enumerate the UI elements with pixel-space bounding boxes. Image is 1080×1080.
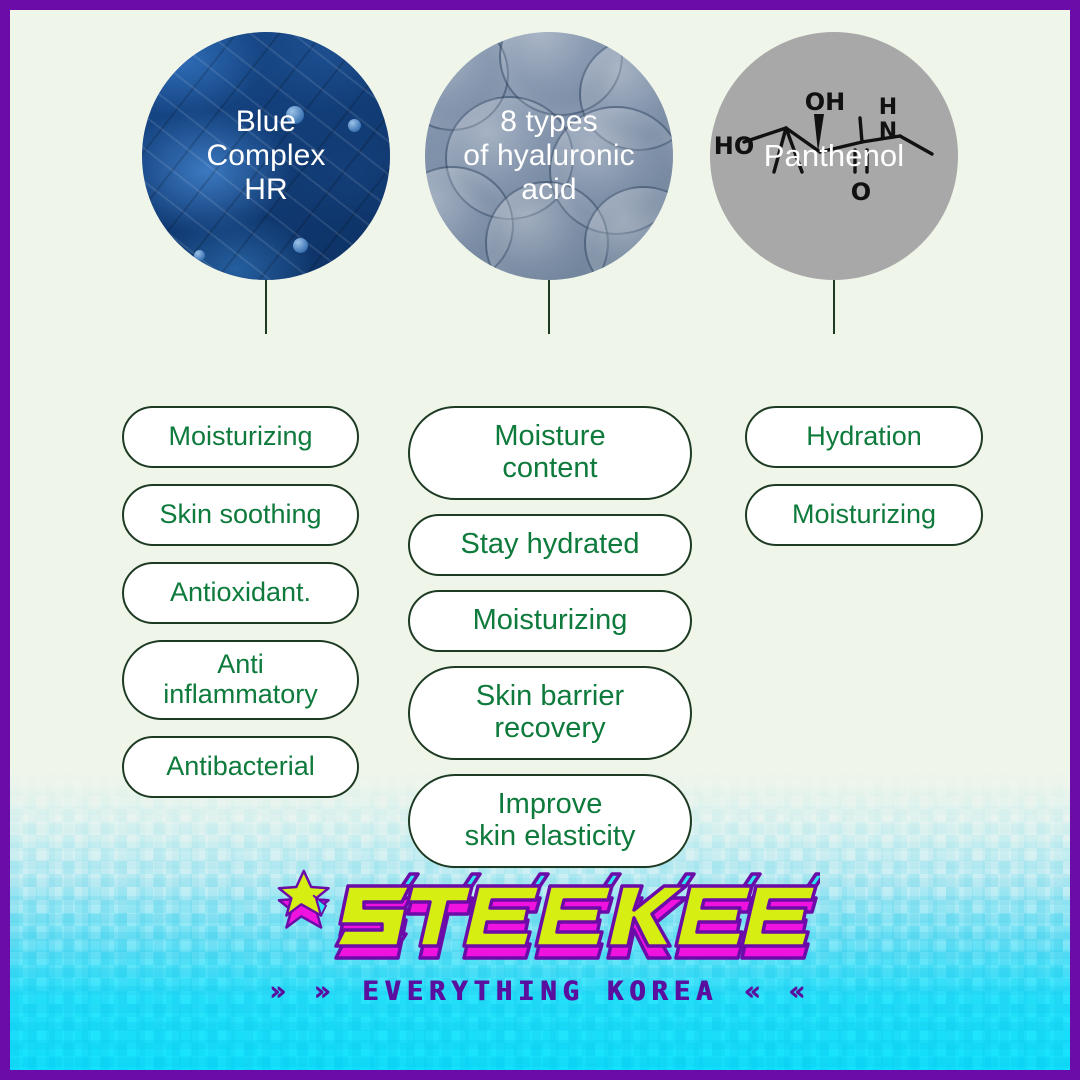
brand-logo-block: » » EVERYTHING KOREA « « <box>10 840 1070 1070</box>
ingredient-caption: 8 types of hyaluronic acid <box>463 105 634 208</box>
benefit-list-panthenol: Hydration Moisturizing <box>745 406 983 546</box>
benefit-label: Moisturizing <box>168 422 312 452</box>
benefit-label: Moisturecontent <box>494 421 605 485</box>
benefit-list-hyaluronic-acid: Moisturecontent Stay hydrated Moisturizi… <box>408 406 692 868</box>
benefit-pill[interactable]: Moisturizing <box>745 484 983 546</box>
benefit-list-blue-complex-hr: Moisturizing Skin soothing Antioxidant. … <box>122 406 359 798</box>
benefit-label: Stay hydrated <box>461 529 640 561</box>
svg-text:OH: OH <box>805 88 846 116</box>
benefit-label: Antibacterial <box>166 752 315 782</box>
ingredient-circle-blue-complex-hr: Blue Complex HR <box>142 32 390 280</box>
benefit-pill[interactable]: Stay hydrated <box>408 514 692 576</box>
ingredient-circle-hyaluronic-acid: 8 types of hyaluronic acid <box>425 32 673 280</box>
benefit-pill[interactable]: Moisturizing <box>408 590 692 652</box>
ingredient-caption: Blue Complex HR <box>206 105 325 208</box>
benefit-pill[interactable]: Skin barrierrecovery <box>408 666 692 760</box>
ingredient-caption: Panthenol <box>764 138 905 173</box>
content-frame: Blue Complex HR 8 types of hyaluronic ac… <box>10 10 1070 1070</box>
tagline-row: » » EVERYTHING KOREA « « <box>269 976 811 1007</box>
benefit-pill[interactable]: Skin soothing <box>122 484 359 546</box>
ingredient-circle-panthenol: HO OH H N O Panthenol <box>710 32 958 280</box>
benefit-pill[interactable]: Antiinflammatory <box>122 640 359 720</box>
benefit-pill[interactable]: Antibacterial <box>122 736 359 798</box>
infographic-canvas: Blue Complex HR 8 types of hyaluronic ac… <box>0 0 1080 1080</box>
petal-bud-icon <box>348 119 361 132</box>
connector-line-hyaluronic-acid <box>548 280 550 334</box>
chevron-right-icon: » » <box>269 976 336 1007</box>
benefit-label: Moisturizing <box>792 500 936 530</box>
benefit-pill[interactable]: Hydration <box>745 406 983 468</box>
tagline-text: EVERYTHING KOREA <box>362 976 718 1007</box>
svg-text:O: O <box>851 178 871 206</box>
chevron-left-icon: « « <box>744 976 811 1007</box>
benefit-label: Antiinflammatory <box>163 650 318 709</box>
connector-line-blue-complex-hr <box>265 280 267 334</box>
steekee-wordmark <box>260 850 820 970</box>
benefit-pill[interactable]: Moisturizing <box>122 406 359 468</box>
benefit-pill[interactable]: Antioxidant. <box>122 562 359 624</box>
svg-text:HO: HO <box>714 132 755 160</box>
connector-line-panthenol <box>833 280 835 334</box>
logo-letter-S <box>336 874 418 958</box>
benefit-label: Hydration <box>806 422 922 452</box>
petal-bud-icon <box>293 238 308 253</box>
benefit-label: Antioxidant. <box>170 578 311 608</box>
benefit-pill[interactable]: Moisturecontent <box>408 406 692 500</box>
star-icon <box>279 871 329 928</box>
benefit-label: Skin barrierrecovery <box>476 681 624 745</box>
benefit-label: Moisturizing <box>473 605 628 637</box>
benefit-label: Skin soothing <box>159 500 321 530</box>
svg-text:H: H <box>879 95 897 120</box>
